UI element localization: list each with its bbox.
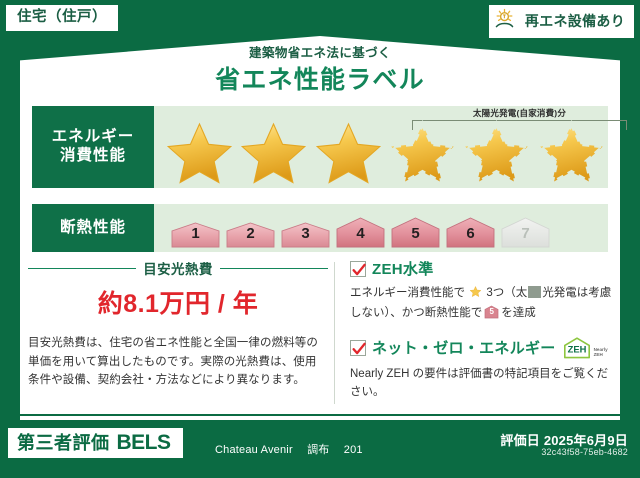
zeh-standard-title: ZEH水準 — [372, 258, 434, 279]
net-zero-energy-header: ネット・ゼロ・エネルギー ZEH Nearly ZEH — [350, 336, 612, 360]
insulation-level-number: 6 — [443, 225, 498, 242]
utility-cost-heading: 目安光熱費 — [28, 258, 328, 278]
insulation-level-number: 2 — [223, 225, 278, 242]
renewable-energy-badge: 再エネ設備あり — [489, 5, 634, 38]
renewable-energy-label: 再エネ設備あり — [525, 14, 625, 28]
star-icon — [162, 120, 236, 186]
insulation-level-number: 5 — [388, 225, 443, 242]
energy-label-root: 住宅（住戸） 再エネ設備あり 建築物省エネ法に基づく 省エネ性能 — [0, 0, 640, 478]
star-icon — [311, 120, 385, 186]
net-zero-energy-text: Nearly ZEH の要件は評価書の特記項目をご覧ください。 — [350, 365, 612, 402]
zeh-section: ZEH水準 エネルギー消費性能で 3つ（太光発電は考慮しない）、かつ断熱性能で … — [350, 258, 612, 402]
insulation-level-house: 5 — [388, 211, 443, 249]
insulation-performance-meter: 1 2 3 4 — [154, 204, 608, 252]
insulation-level-house: 1 — [168, 215, 223, 249]
evaluation-date-value: 2025年6月9日 — [544, 433, 628, 448]
building-area: 調布 — [307, 444, 329, 456]
checkmark-icon — [350, 340, 366, 356]
insulation-level-house: 6 — [443, 211, 498, 249]
rule-left — [28, 268, 136, 269]
insulation-level-number: 1 — [168, 225, 223, 242]
building-unit: 201 — [344, 444, 363, 456]
utility-cost-section: 目安光熱費 約8.1万円 / 年 目安光熱費は、住宅の省エネ性能と全国一律の燃料… — [28, 258, 328, 390]
insulation-performance-row: 断熱性能 — [32, 204, 608, 252]
insulation-level-house: 2 — [223, 215, 278, 249]
redacted-block — [528, 286, 541, 298]
third-party-eval-label: 第三者評価 — [17, 434, 110, 452]
zeh-standard-text: エネルギー消費性能で 3つ（太光発電は考慮しない）、かつ断熱性能で 5 を達成 — [350, 284, 612, 323]
utility-cost-value: 約8.1万円 / 年 — [28, 284, 328, 320]
building-identification: Chateau Avenir 調布 201 — [215, 441, 374, 457]
zeh-standard-header: ZEH水準 — [350, 258, 612, 279]
star-icon-solar — [534, 120, 608, 186]
sun-solar-icon — [495, 8, 521, 34]
star-icon-solar — [385, 120, 459, 186]
energy-performance-label: エネルギー 消費性能 — [32, 106, 154, 188]
zeh-standard-block: ZEH水準 エネルギー消費性能で 3つ（太光発電は考慮しない）、かつ断熱性能で … — [350, 258, 612, 323]
utility-cost-note: 目安光熱費は、住宅の省エネ性能と全国一律の燃料等の単価を用いて算出したものです。… — [28, 334, 328, 390]
star-icon-solar — [459, 120, 533, 186]
insulation-performance-label: 断熱性能 — [32, 204, 154, 252]
star-icon — [469, 289, 485, 301]
zeh-house-logo: ZEH Nearly ZEH — [562, 336, 608, 360]
label-subtitle: 建築物省エネ法に基づく — [0, 42, 640, 61]
zeh-logo-caption: Nearly ZEH — [594, 348, 608, 360]
insulation-level-scale: 1 2 3 4 — [154, 204, 608, 252]
checkmark-icon — [350, 261, 366, 277]
rule-right — [220, 268, 328, 269]
evaluation-date-label: 評価日 — [500, 433, 540, 448]
bels-certification-chip: 第三者評価 BELS — [8, 428, 183, 458]
footer-bar: 第三者評価 BELS Chateau Avenir 調布 201 評価日 202… — [0, 420, 640, 478]
star-rating — [154, 106, 608, 188]
net-zero-energy-title: ネット・ゼロ・エネルギー — [372, 337, 556, 358]
bels-logo-text: BELS — [117, 432, 171, 453]
building-name: Chateau Avenir — [215, 444, 293, 456]
insulation-level-house-inactive: 7 — [498, 211, 553, 249]
insulation-level-number: 3 — [278, 225, 333, 242]
label-title: 省エネ性能ラベル — [0, 60, 640, 96]
energy-performance-row: エネルギー 消費性能 太陽光発電(自家消費)分 — [32, 106, 608, 188]
insulation-level-house: 3 — [278, 215, 333, 249]
star-icon — [236, 120, 310, 186]
insulation-level-badge: 5 — [484, 305, 499, 319]
energy-performance-meter: 太陽光発電(自家消費)分 — [154, 106, 608, 188]
house-type-tag: 住宅（住戸） — [6, 5, 118, 31]
insulation-level-house: 4 — [333, 211, 388, 249]
evaluation-id: 32c43f58-75eb-4682 — [541, 447, 628, 457]
insulation-level-number: 4 — [333, 225, 388, 242]
net-zero-energy-block: ネット・ゼロ・エネルギー ZEH Nearly ZEH Nearly ZEH の… — [350, 336, 612, 402]
svg-text:ZEH: ZEH — [567, 343, 586, 354]
insulation-level-number: 7 — [498, 225, 553, 242]
section-divider — [334, 262, 335, 404]
